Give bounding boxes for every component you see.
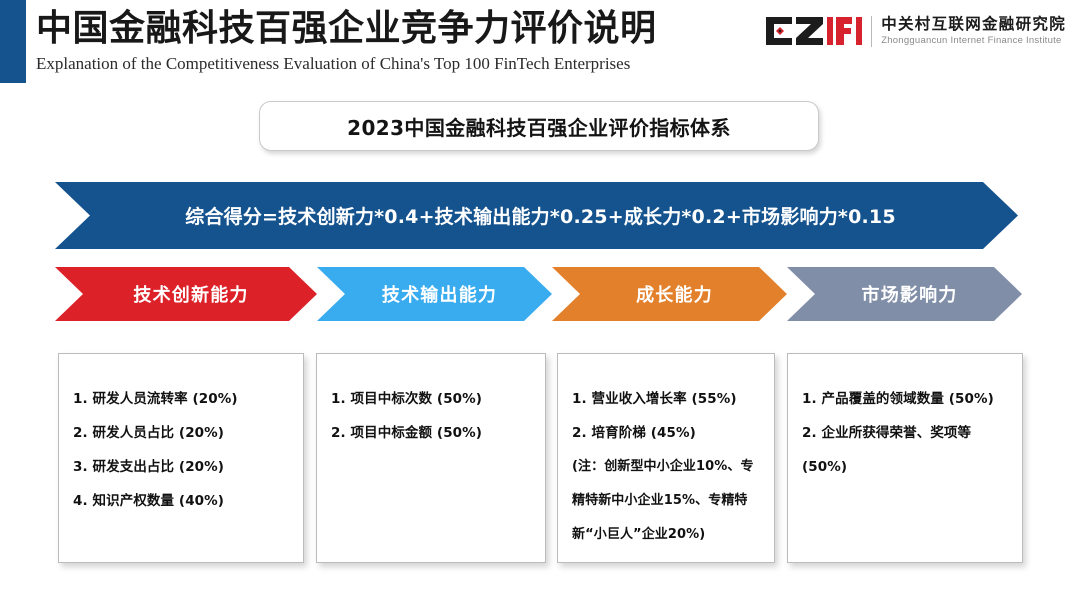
- card-line: 3. 研发支出占比 (20%): [73, 450, 291, 484]
- page-title-en: Explanation of the Competitiveness Evalu…: [36, 52, 657, 76]
- card-line: 2. 研发人员占比 (20%): [73, 416, 291, 450]
- header-title-block: 中国金融科技百强企业竞争力评价说明 Explanation of the Com…: [36, 6, 657, 76]
- card-growth: 1. 营业收入增长率 (55%) 2. 培育阶梯 (45%) (注：创新型中小企…: [557, 353, 775, 563]
- page-title-cn: 中国金融科技百强企业竞争力评价说明: [36, 6, 657, 50]
- composite-score-formula-banner: 综合得分=技术创新力*0.4+技术输出能力*0.25+成长力*0.2+市场影响力…: [55, 182, 1018, 249]
- chevron-growth[interactable]: 成长能力: [552, 267, 787, 321]
- indicator-cards-row: 1. 研发人员流转率 (20%) 2. 研发人员占比 (20%) 3. 研发支出…: [0, 353, 1080, 568]
- card-line: 1. 产品覆盖的领域数量 (50%): [802, 382, 1010, 416]
- logo-divider: [871, 16, 872, 47]
- chevron-market-influence[interactable]: 市场影响力: [787, 267, 1022, 321]
- slide-header: 中国金融科技百强企业竞争力评价说明 Explanation of the Com…: [0, 0, 1080, 88]
- card-tech-innovation: 1. 研发人员流转率 (20%) 2. 研发人员占比 (20%) 3. 研发支出…: [58, 353, 304, 563]
- logo-wordmark: 中关村互联网金融研究院 Zhongguancun Internet Financ…: [881, 15, 1066, 47]
- chevron-label: 市场影响力: [852, 281, 958, 307]
- chevron-tech-output[interactable]: 技术输出能力: [317, 267, 552, 321]
- card-line: 1. 营业收入增长率 (55%): [572, 382, 762, 416]
- institute-logo: 中关村互联网金融研究院 Zhongguancun Internet Financ…: [766, 10, 1066, 52]
- dimension-chevron-row: 技术创新能力 技术输出能力 成长能力 市场影响力: [55, 267, 1022, 321]
- card-line: 2. 培育阶梯 (45%): [572, 416, 762, 450]
- card-line: 4. 知识产权数量 (40%): [73, 484, 291, 518]
- card-line: 2. 企业所获得荣誉、奖项等 (50%): [802, 416, 1010, 484]
- chevron-label: 技术创新能力: [123, 281, 248, 307]
- card-line: 2. 项目中标金额 (50%): [331, 416, 533, 450]
- czifi-logo-icon: [766, 17, 862, 45]
- card-note: (注：创新型中小企业10%、专精特新中小企业15%、专精特新“小巨人”企业20%…: [572, 450, 762, 552]
- logo-name-cn: 中关村互联网金融研究院: [881, 15, 1066, 34]
- card-line: 1. 项目中标次数 (50%): [331, 382, 533, 416]
- logo-name-en: Zhongguancun Internet Finance Institute: [881, 34, 1066, 47]
- chevron-label: 技术输出能力: [372, 281, 497, 307]
- composite-score-formula-text: 综合得分=技术创新力*0.4+技术输出能力*0.25+成长力*0.2+市场影响力…: [177, 202, 896, 229]
- indicator-system-title-box: 2023中国金融科技百强企业评价指标体系: [259, 101, 819, 151]
- chevron-label: 成长能力: [626, 281, 713, 307]
- chevron-tech-innovation[interactable]: 技术创新能力: [55, 267, 317, 321]
- header-accent-bar: [0, 0, 26, 83]
- card-market-influence: 1. 产品覆盖的领域数量 (50%) 2. 企业所获得荣誉、奖项等 (50%): [787, 353, 1023, 563]
- slide-canvas: 中国金融科技百强企业竞争力评价说明 Explanation of the Com…: [0, 0, 1080, 608]
- card-tech-output: 1. 项目中标次数 (50%) 2. 项目中标金额 (50%): [316, 353, 546, 563]
- card-line: 1. 研发人员流转率 (20%): [73, 382, 291, 416]
- indicator-system-title-text: 2023中国金融科技百强企业评价指标体系: [347, 112, 731, 141]
